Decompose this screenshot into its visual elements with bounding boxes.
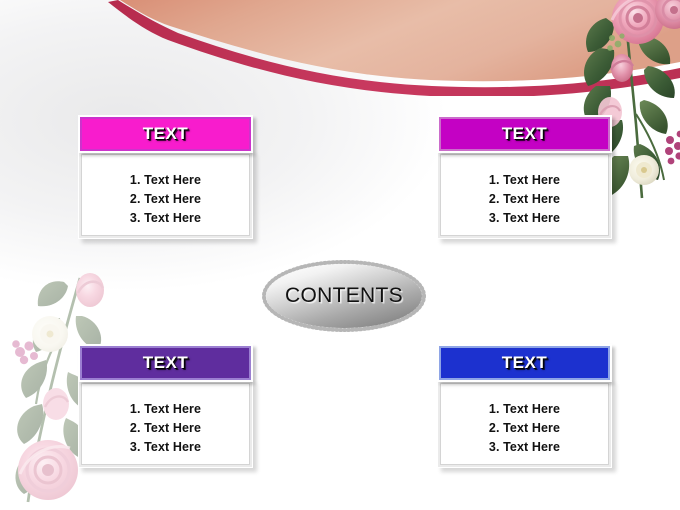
list-item: 3. Text Here <box>438 438 611 457</box>
list-item: 2. Text Here <box>438 419 611 438</box>
panel-header-label: TEXT <box>502 124 547 144</box>
slide-canvas: TEXT 1. Text Here 2. Text Here 3. Text H… <box>0 0 680 510</box>
list-item: 2. Text Here <box>438 190 611 209</box>
list-item: 3. Text Here <box>79 209 252 228</box>
content-panel-bottom-right[interactable]: TEXT 1. Text Here 2. Text Here 3. Text H… <box>437 344 612 468</box>
panel-header-label: TEXT <box>143 124 188 144</box>
content-panel-top-left[interactable]: TEXT 1. Text Here 2. Text Here 3. Text H… <box>78 115 253 239</box>
panel-body-bottom-right: 1. Text Here 2. Text Here 3. Text Here <box>437 380 612 468</box>
list-item: 1. Text Here <box>79 171 252 190</box>
list-item: 2. Text Here <box>79 419 252 438</box>
content-panel-bottom-left[interactable]: TEXT 1. Text Here 2. Text Here 3. Text H… <box>78 344 253 468</box>
panel-header-bottom-left[interactable]: TEXT <box>78 344 253 382</box>
list-item: 1. Text Here <box>79 400 252 419</box>
panel-header-label: TEXT <box>502 353 547 373</box>
panel-header-top-left[interactable]: TEXT <box>78 115 253 153</box>
panel-header-bottom-right[interactable]: TEXT <box>437 344 612 382</box>
list-item: 2. Text Here <box>79 190 252 209</box>
panel-header-label: TEXT <box>143 353 188 373</box>
contents-oval[interactable]: CONTENTS <box>261 259 427 333</box>
list-item: 1. Text Here <box>438 171 611 190</box>
panel-header-top-right[interactable]: TEXT <box>437 115 612 153</box>
list-item: 1. Text Here <box>438 400 611 419</box>
content-panel-top-right[interactable]: TEXT 1. Text Here 2. Text Here 3. Text H… <box>437 115 612 239</box>
panel-body-bottom-left: 1. Text Here 2. Text Here 3. Text Here <box>78 380 253 468</box>
panel-body-top-right: 1. Text Here 2. Text Here 3. Text Here <box>437 151 612 239</box>
panel-body-top-left: 1. Text Here 2. Text Here 3. Text Here <box>78 151 253 239</box>
list-item: 3. Text Here <box>438 209 611 228</box>
list-item: 3. Text Here <box>79 438 252 457</box>
